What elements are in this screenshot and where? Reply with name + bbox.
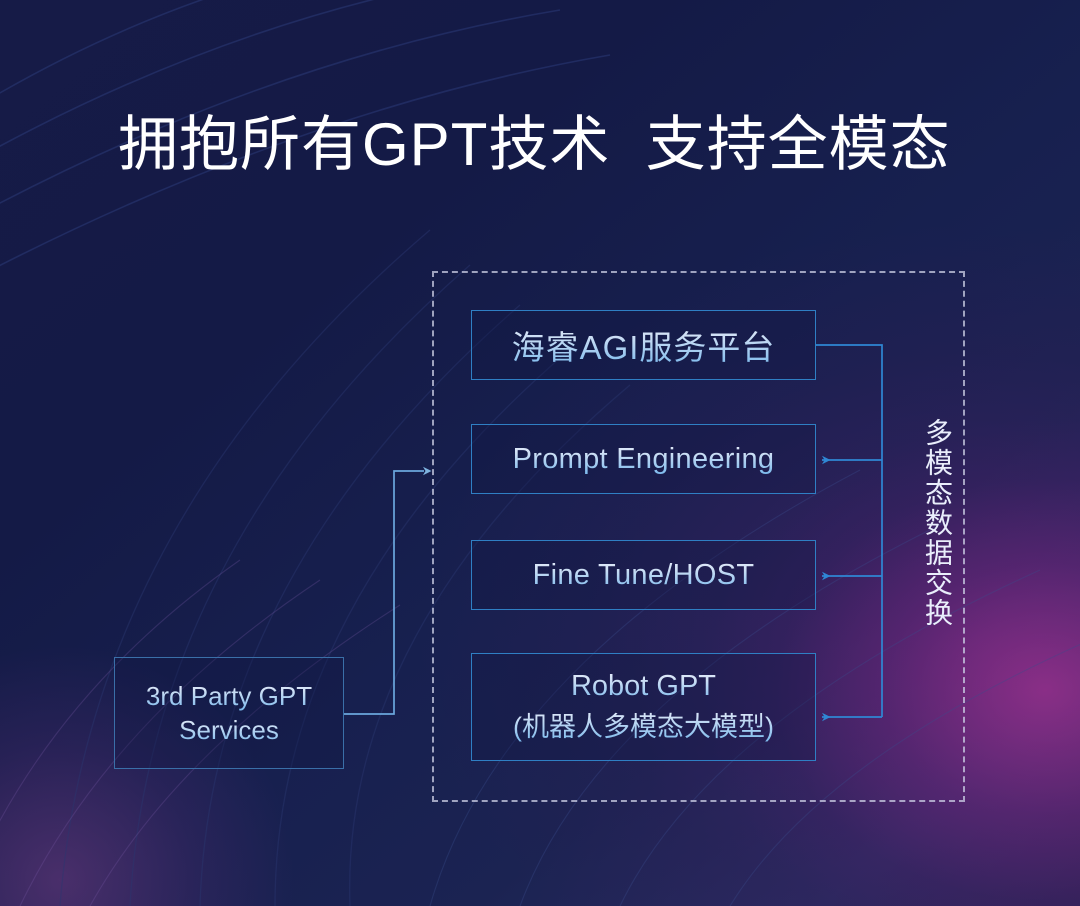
connector-thirdparty xyxy=(344,471,424,714)
page-title: 拥抱所有GPT技术 支持全模态 xyxy=(118,110,978,179)
slide-canvas: 拥抱所有GPT技术 支持全模态 海睿AGI服务平台 Prompt Engi xyxy=(0,0,1080,906)
side-label-multimodal-exchange: 多模态数据交换 xyxy=(913,418,953,628)
node-thirdparty-label: 3rd Party GPT xyxy=(146,681,312,712)
node-thirdparty-sublabel: Services xyxy=(179,715,279,746)
node-finetune-label: Fine Tune/HOST xyxy=(533,559,755,592)
node-robot-sublabel: (机器人多模态大模型) xyxy=(513,705,774,744)
node-robot-gpt[interactable]: Robot GPT (机器人多模态大模型) xyxy=(471,653,816,761)
node-prompt-engineering[interactable]: Prompt Engineering xyxy=(471,424,816,494)
node-platform-label: 海睿AGI服务平台 xyxy=(512,321,776,369)
node-platform[interactable]: 海睿AGI服务平台 xyxy=(471,310,816,380)
node-third-party-gpt[interactable]: 3rd Party GPT Services xyxy=(114,657,344,769)
node-fine-tune-host[interactable]: Fine Tune/HOST xyxy=(471,540,816,610)
node-prompt-label: Prompt Engineering xyxy=(513,443,775,476)
node-robot-label: Robot GPT xyxy=(571,670,716,703)
